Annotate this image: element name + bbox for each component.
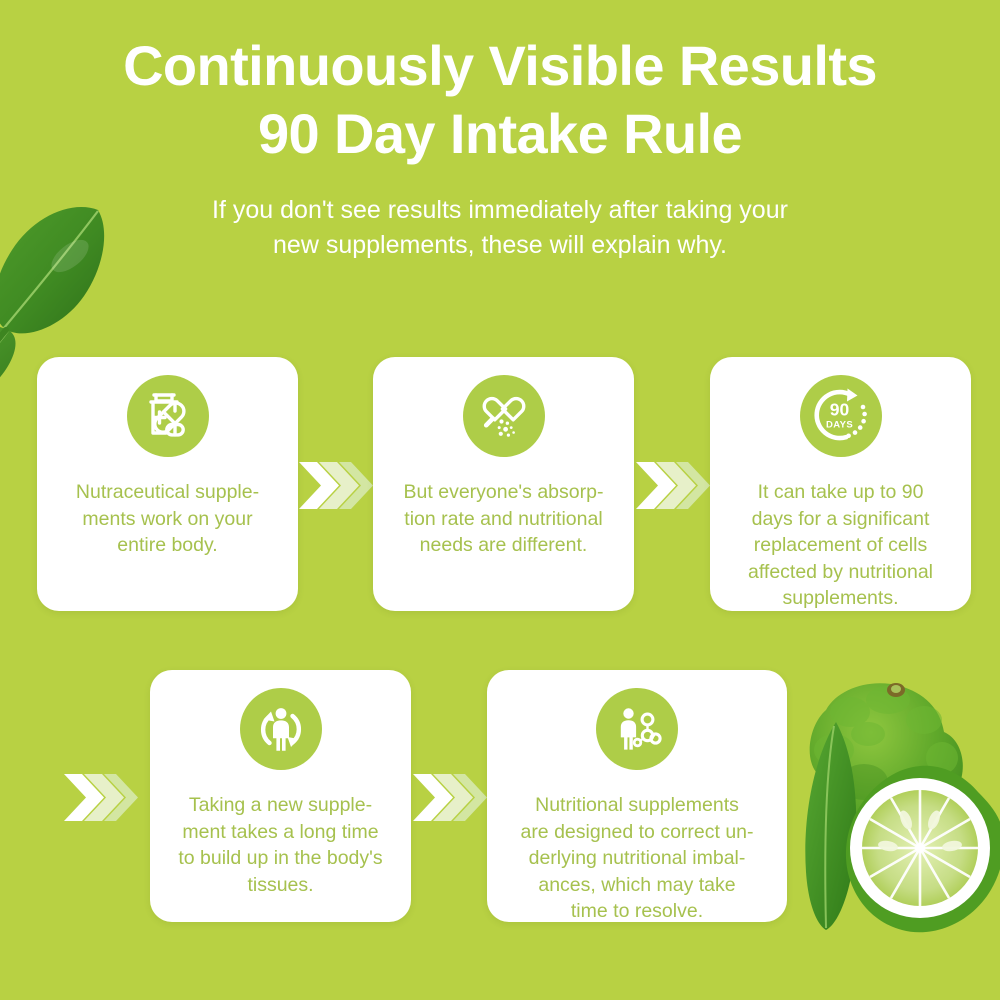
step-card-3-text: It can take up to 90days for a significa… [724, 479, 957, 612]
icon-badge-4 [240, 688, 322, 770]
step-card-2-text: But everyone's absorp-tion rate and nutr… [387, 479, 620, 559]
infographic-canvas: Continuously Visible Results 90 Day Inta… [0, 0, 1000, 1000]
ninety-days-unit: DAYS [825, 420, 852, 431]
bergamot-lime-fruit-icon [772, 662, 1000, 944]
chevron-right-triple-icon [634, 458, 710, 518]
ninety-days-cycle-icon: 90 DAYS [812, 387, 870, 445]
step-card-1-text: Nutraceutical supple-ments work on youre… [51, 479, 284, 559]
page-title-line-2: 90 Day Intake Rule [0, 100, 1000, 168]
icon-badge-3: 90 DAYS [800, 375, 882, 457]
icon-badge-1 [127, 375, 209, 457]
step-card-4-text: Taking a new supple-ment takes a long ti… [164, 792, 397, 898]
page-subtitle-line-1: If you don't see results immediately aft… [0, 193, 1000, 229]
chevron-right-triple-icon [297, 458, 373, 518]
step-card-1[interactable]: Nutraceutical supple-ments work on youre… [37, 357, 298, 611]
ninety-days-number: 90 [829, 400, 849, 420]
person-cycle-arrows-icon [252, 700, 310, 758]
open-capsule-granules-icon [476, 388, 532, 444]
chevron-right-triple-icon [62, 770, 138, 830]
step-card-5[interactable]: Nutritional supplementsare designed to c… [487, 670, 787, 922]
header: Continuously Visible Results 90 Day Inta… [0, 32, 1000, 264]
icon-badge-5 [596, 688, 678, 770]
page-subtitle-line-2: new supplements, these will explain why. [0, 228, 1000, 264]
person-molecule-icon [608, 700, 666, 758]
step-card-5-text: Nutritional supplementsare designed to c… [501, 792, 773, 925]
step-card-2[interactable]: But everyone's absorp-tion rate and nutr… [373, 357, 634, 611]
page-title-line-1: Continuously Visible Results [0, 32, 1000, 100]
step-card-4[interactable]: Taking a new supple-ment takes a long ti… [150, 670, 411, 922]
medicine-bottle-capsule-icon [140, 388, 196, 444]
icon-badge-2 [463, 375, 545, 457]
step-card-3[interactable]: 90 DAYS It can take up to 90days for a s… [710, 357, 971, 611]
page-subtitle: If you don't see results immediately aft… [0, 193, 1000, 264]
chevron-right-triple-icon [411, 770, 487, 830]
